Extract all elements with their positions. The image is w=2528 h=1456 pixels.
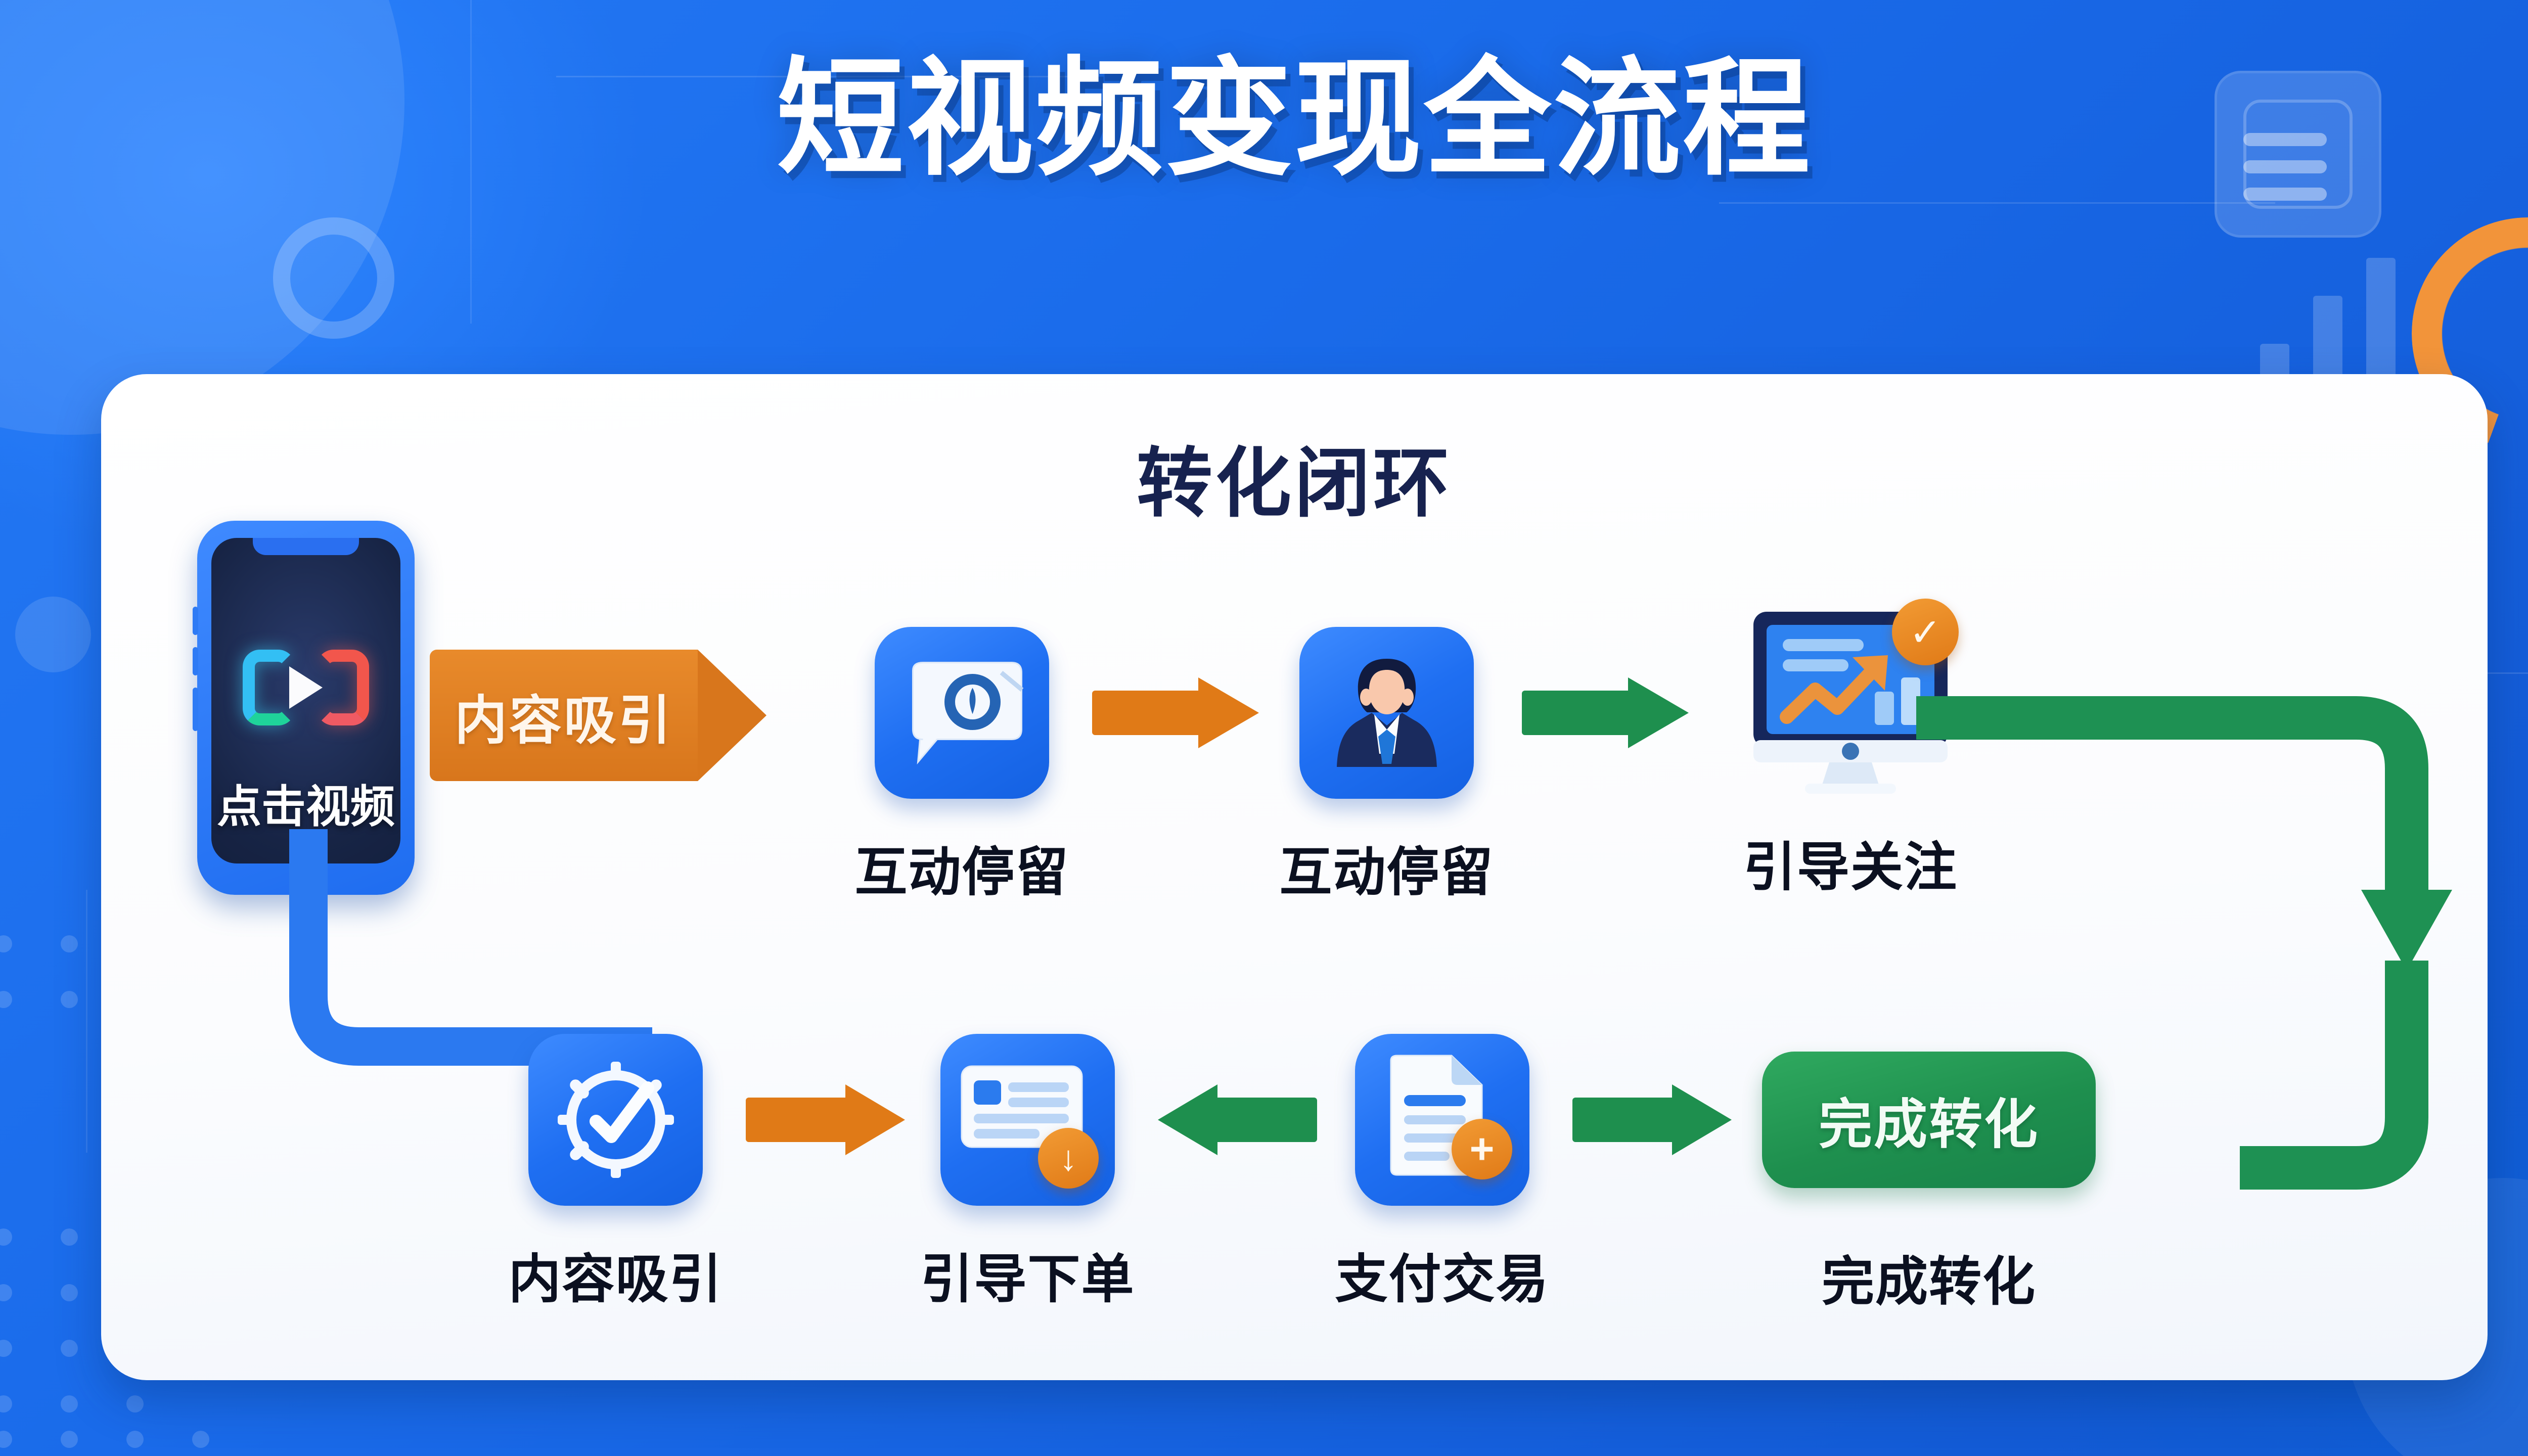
arrow-bottom-2 xyxy=(1158,1084,1317,1155)
node-label: 引导下单 xyxy=(880,1236,1176,1312)
bg-line xyxy=(1719,202,2275,204)
green-pill-label: 完成转化 xyxy=(1819,1081,2039,1159)
bg-circle-ring-left xyxy=(273,217,394,339)
node-content-attraction[interactable]: 内容吸引 xyxy=(528,1034,703,1206)
phone-screen-label: 点击视频 xyxy=(211,771,400,835)
play-logo-icon xyxy=(243,650,369,725)
node-tile xyxy=(875,627,1049,799)
node-guide-order[interactable]: ↓ 引导下单 xyxy=(940,1034,1115,1206)
node-tile xyxy=(528,1034,703,1206)
node-label: 互动停留 xyxy=(814,829,1110,905)
check-badge-icon: ✓ xyxy=(1892,599,1959,665)
node-label: 支付交易 xyxy=(1294,1236,1590,1312)
arrow-content-attraction: 内容吸引 xyxy=(430,650,766,781)
download-badge-icon: ↓ xyxy=(1038,1128,1099,1189)
page-title: 短视频变现全流程 xyxy=(0,56,2528,183)
arrow-label: 内容吸引 xyxy=(455,677,673,754)
phone-power-button xyxy=(193,688,198,731)
node-payment-transaction[interactable]: + 支付交易 xyxy=(1355,1034,1529,1206)
arrow-top-2 xyxy=(1522,677,1689,748)
main-panel: 转化闭环 点击视频 内容吸引 xyxy=(101,374,2488,1380)
node-tile xyxy=(1299,627,1474,799)
node-chat-interaction[interactable]: 互动停留 xyxy=(875,627,1049,799)
phone-notch xyxy=(253,538,359,555)
node-tile: + xyxy=(1355,1034,1529,1206)
green-pill-icon: 完成转化 xyxy=(1762,1052,2096,1188)
arrow-bottom-1 xyxy=(746,1084,905,1155)
node-person-interaction[interactable]: 互动停留 xyxy=(1299,627,1474,799)
bg-circle-small-left xyxy=(15,597,91,672)
node-label: 完成转化 xyxy=(1762,1239,2096,1315)
chat-bubble-eye-icon xyxy=(897,659,1026,767)
compass-check-icon xyxy=(553,1057,679,1183)
business-person-icon xyxy=(1324,650,1450,776)
node-label: 内容吸引 xyxy=(468,1236,763,1312)
panel-subtitle: 转化闭环 xyxy=(101,422,2488,532)
bg-line xyxy=(86,890,87,1153)
node-label: 互动停留 xyxy=(1239,829,1534,905)
arrow-top-1 xyxy=(1092,677,1259,748)
node-tile: ↓ xyxy=(940,1034,1115,1206)
phone-screen: 点击视频 xyxy=(211,538,400,863)
arrow-bottom-3 xyxy=(1572,1084,1732,1155)
plus-badge-icon: + xyxy=(1452,1119,1512,1179)
phone-volume-button xyxy=(193,607,198,635)
node-complete-conversion[interactable]: 完成转化 完成转化 xyxy=(1762,1052,2096,1188)
phone-volume-button xyxy=(193,647,198,675)
